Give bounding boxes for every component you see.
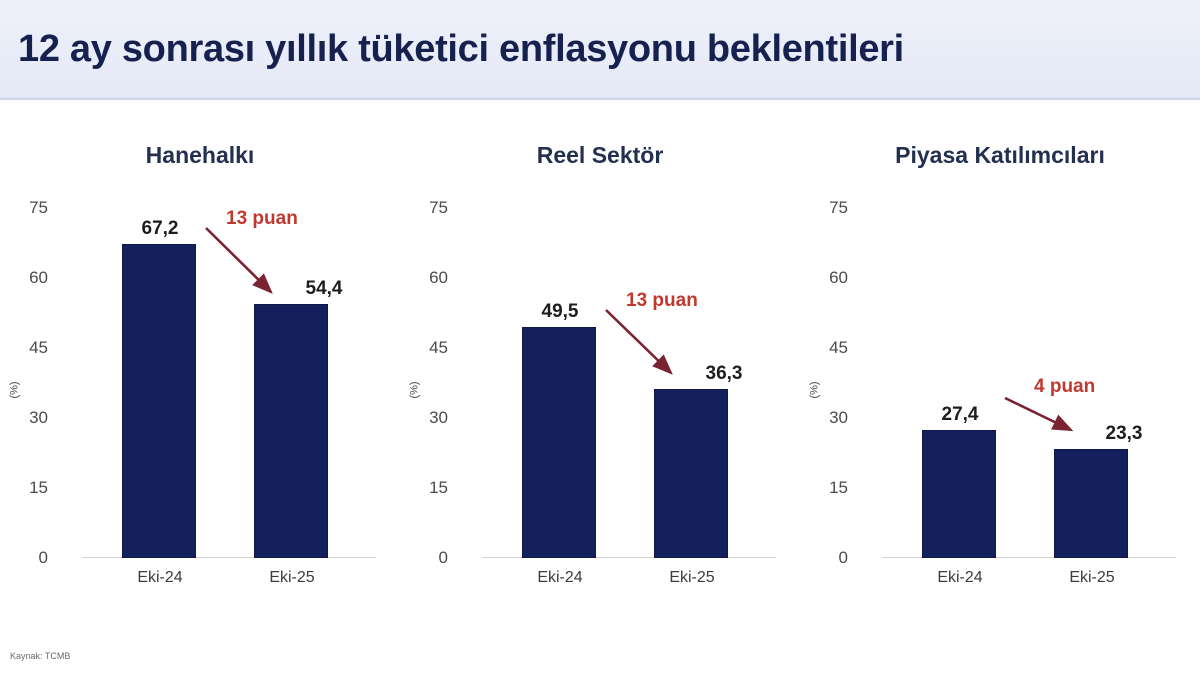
x-tick-label: Eki-25 — [1035, 569, 1149, 587]
y-axis-label: (%) — [809, 381, 821, 398]
bar[interactable]: 23,3 Eki-25 — [1054, 449, 1128, 558]
bar-value-label: 54,4 — [269, 278, 379, 300]
panel-title: Reel Sektör — [400, 142, 800, 169]
y-tick: 15 — [29, 478, 48, 498]
y-tick: 0 — [839, 548, 848, 568]
panel-title: Hanehalkı — [0, 142, 400, 169]
y-tick: 0 — [439, 548, 448, 568]
bar-value-label: 49,5 — [505, 301, 615, 323]
plot-area: (%) 0 15 30 45 60 75 27,4 Eki-24 23,3 Ek… — [858, 208, 1176, 558]
y-tick: 75 — [29, 198, 48, 218]
bar-value-label: 23,3 — [1069, 423, 1179, 445]
x-tick-label: Eki-25 — [635, 569, 749, 587]
x-tick-label: Eki-24 — [103, 569, 217, 587]
y-tick: 0 — [39, 548, 48, 568]
y-tick: 75 — [829, 198, 848, 218]
chart-panel-hanehalki: Hanehalkı (%) 0 15 30 45 60 75 67,2 Eki-… — [0, 100, 400, 620]
delta-arrow-icon — [858, 208, 1176, 558]
chart-panel-reel-sektor: Reel Sektör (%) 0 15 30 45 60 75 49,5 Ek… — [400, 100, 800, 620]
page-title: 12 ay sonrası yıllık tüketici enflasyonu… — [18, 28, 904, 71]
plot-area: (%) 0 15 30 45 60 75 67,2 Eki-24 54,4 Ek… — [58, 208, 376, 558]
y-tick: 60 — [429, 268, 448, 288]
bar-value-label: 67,2 — [105, 218, 215, 240]
delta-label: 13 puan — [226, 208, 298, 230]
bar[interactable]: 67,2 Eki-24 — [122, 244, 196, 558]
y-tick: 45 — [429, 338, 448, 358]
delta-annotation: 4 puan — [858, 208, 1176, 558]
plot-area: (%) 0 15 30 45 60 75 49,5 Eki-24 36,3 Ek… — [458, 208, 776, 558]
y-tick: 30 — [29, 408, 48, 428]
chart-panel-row: Hanehalkı (%) 0 15 30 45 60 75 67,2 Eki-… — [0, 100, 1200, 620]
panel-title: Piyasa Katılımcıları — [800, 142, 1200, 169]
y-tick: 30 — [829, 408, 848, 428]
bar[interactable]: 54,4 Eki-25 — [254, 304, 328, 558]
x-tick-label: Eki-24 — [903, 569, 1017, 587]
y-tick: 30 — [429, 408, 448, 428]
delta-label: 4 puan — [1034, 376, 1095, 398]
delta-arrow-icon — [58, 208, 376, 558]
x-tick-label: Eki-25 — [235, 569, 349, 587]
bar-value-label: 36,3 — [669, 363, 779, 385]
delta-annotation: 13 puan — [58, 208, 376, 558]
y-tick: 60 — [29, 268, 48, 288]
bar-value-label: 27,4 — [905, 404, 1015, 426]
bar[interactable]: 36,3 Eki-25 — [654, 389, 728, 558]
header-band: 12 ay sonrası yıllık tüketici enflasyonu… — [0, 0, 1200, 100]
source-note: Kaynak: TCMB — [10, 651, 70, 661]
bar[interactable]: 27,4 Eki-24 — [922, 430, 996, 558]
y-axis-label: (%) — [9, 381, 21, 398]
y-tick: 60 — [829, 268, 848, 288]
y-tick: 45 — [29, 338, 48, 358]
y-tick: 15 — [429, 478, 448, 498]
y-axis-label: (%) — [409, 381, 421, 398]
y-tick: 75 — [429, 198, 448, 218]
delta-label: 13 puan — [626, 290, 698, 312]
y-tick: 45 — [829, 338, 848, 358]
y-tick: 15 — [829, 478, 848, 498]
chart-panel-piyasa-katilimcilari: Piyasa Katılımcıları (%) 0 15 30 45 60 7… — [800, 100, 1200, 620]
x-tick-label: Eki-24 — [503, 569, 617, 587]
bar[interactable]: 49,5 Eki-24 — [522, 327, 596, 558]
